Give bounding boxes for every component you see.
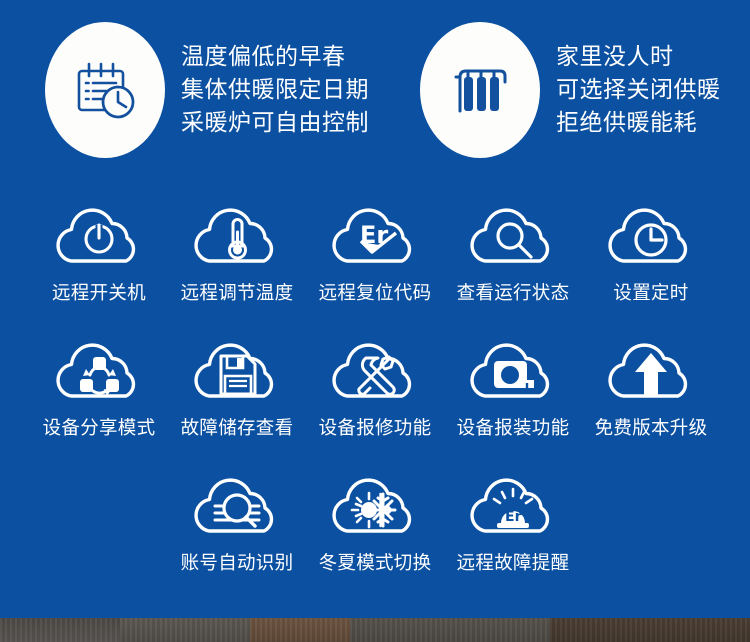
feature-label: 远程调节温度	[181, 283, 294, 305]
cloud-share-nodes-icon	[49, 331, 149, 415]
header-line: 家里没人时	[556, 41, 721, 74]
cloud-alarm-er-icon: Er	[463, 466, 563, 550]
cloud-magnifier-icon	[463, 196, 563, 280]
feature-label: 设备报装功能	[457, 418, 570, 440]
feature-label: 账号自动识别	[181, 553, 294, 575]
cloud-sun-snow-icon	[325, 466, 425, 550]
cloud-power-icon	[49, 196, 149, 280]
feature-account-auto-recognize[interactable]: 账号自动识别	[168, 466, 306, 601]
feature-label: 查看运行状态	[457, 283, 570, 305]
feature-remote-power[interactable]: 远程开关机	[30, 196, 168, 331]
cloud-floppy-icon	[187, 331, 287, 415]
feature-label: 设置定时	[613, 283, 688, 305]
header-block-away: 家里没人时 可选择关闭供暖 拒绝供暖能耗	[420, 22, 721, 158]
cloud-thermometer-icon	[187, 196, 287, 280]
header-line: 集体供暖限定日期	[181, 74, 369, 107]
feature-remote-fault-alert[interactable]: Er 远程故障提醒	[444, 466, 582, 601]
header-line: 采暖炉可自由控制	[181, 107, 369, 140]
header-line: 可选择关闭供暖	[556, 74, 721, 107]
header-text-schedule: 温度偏低的早春 集体供暖限定日期 采暖炉可自由控制	[181, 41, 369, 140]
feature-label: 远程复位代码	[319, 283, 432, 305]
calendar-clock-icon	[68, 53, 142, 127]
er-badge-text: Er	[505, 509, 522, 525]
cloud-clock-icon	[601, 196, 701, 280]
header-line: 温度偏低的早春	[181, 41, 369, 74]
feature-grid: 远程开关机 远程调节温度	[0, 196, 750, 601]
promo-page: 温度偏低的早春 集体供暖限定日期 采暖炉可自由控制	[0, 0, 750, 642]
feature-label: 远程故障提醒	[457, 553, 570, 575]
cloud-tools-icon	[325, 331, 425, 415]
feature-install-request[interactable]: 设备报装功能	[444, 331, 582, 466]
feature-label: 设备报修功能	[319, 418, 432, 440]
feature-free-upgrade[interactable]: 免费版本升级	[582, 331, 720, 466]
feature-fault-storage[interactable]: 故障储存查看	[168, 331, 306, 466]
feature-remote-reset-code[interactable]: Er 远程复位代码	[306, 196, 444, 331]
floor-strip	[0, 618, 750, 642]
feature-label: 设备分享模式	[43, 418, 156, 440]
feature-repair-request[interactable]: 设备报修功能	[306, 331, 444, 466]
feature-row: 远程开关机 远程调节温度	[0, 196, 750, 331]
feature-set-timer[interactable]: 设置定时	[582, 196, 720, 331]
header-section: 温度偏低的早春 集体供暖限定日期 采暖炉可自由控制	[0, 0, 750, 180]
header-block-schedule: 温度偏低的早春 集体供暖限定日期 采暖炉可自由控制	[45, 22, 369, 158]
header-text-away: 家里没人时 可选择关闭供暖 拒绝供暖能耗	[556, 41, 721, 140]
cloud-tape-measure-icon	[463, 331, 563, 415]
floor-grain-overlay	[0, 618, 750, 642]
feature-view-status[interactable]: 查看运行状态	[444, 196, 582, 331]
feature-label: 冬夏模式切换	[319, 553, 432, 575]
radiator-icon	[443, 53, 517, 127]
cloud-doc-search-icon	[187, 466, 287, 550]
radiator-badge	[420, 22, 540, 158]
feature-remote-temperature[interactable]: 远程调节温度	[168, 196, 306, 331]
feature-row: 账号自动识别	[0, 466, 750, 601]
cloud-up-arrow-icon	[601, 331, 701, 415]
feature-label: 远程开关机	[52, 283, 146, 305]
feature-label: 故障储存查看	[181, 418, 294, 440]
header-line: 拒绝供暖能耗	[556, 107, 721, 140]
feature-season-mode-switch[interactable]: 冬夏模式切换	[306, 466, 444, 601]
calendar-clock-badge	[45, 22, 165, 158]
feature-row: 设备分享模式 故障储存查看	[0, 331, 750, 466]
feature-device-share[interactable]: 设备分享模式	[30, 331, 168, 466]
cloud-er-check-icon: Er	[325, 196, 425, 280]
feature-label: 免费版本升级	[595, 418, 708, 440]
